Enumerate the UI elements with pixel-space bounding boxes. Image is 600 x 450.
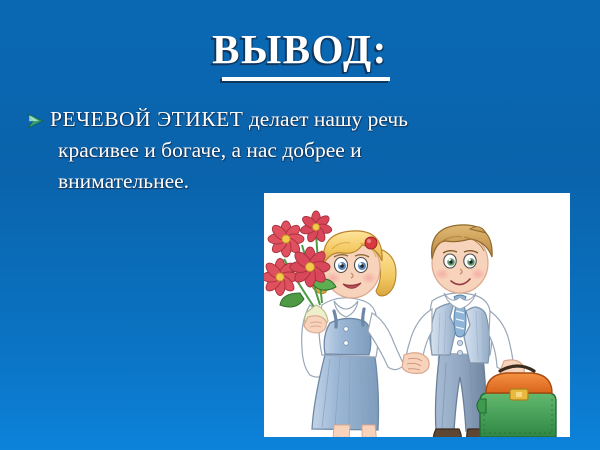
boy-left-shoe bbox=[433, 429, 461, 437]
bullet-line-2: красивее и богаче, а нас добрее и bbox=[50, 135, 566, 166]
bullet-line-1-emphasis: РЕЧЕВОЙ ЭТИКЕТ bbox=[50, 107, 243, 131]
title-underline bbox=[222, 77, 390, 81]
arrow-bullet-icon bbox=[26, 113, 48, 134]
girl-right-leg bbox=[362, 425, 377, 437]
presentation-slide: ВЫВОД: РЕЧЕВОЙ ЭТИКЕТ делает нашу речь к… bbox=[0, 0, 600, 450]
bullet-line-1-rest: делает нашу речь bbox=[243, 107, 408, 131]
bullet-text: РЕЧЕВОЙ ЭТИКЕТ делает нашу речь красивее… bbox=[50, 104, 566, 197]
bullet-list-item: РЕЧЕВОЙ ЭТИКЕТ делает нашу речь красивее… bbox=[26, 104, 566, 197]
page-title: ВЫВОД: bbox=[208, 26, 392, 76]
clasped-hands bbox=[402, 353, 429, 374]
girl-left-hand bbox=[304, 316, 326, 333]
title-block: ВЫВОД: bbox=[0, 26, 600, 76]
girl-left-leg bbox=[333, 425, 350, 437]
girl-hair-bow bbox=[365, 237, 377, 249]
picture-panel: Мальчик и девочка-школьники держатся за … bbox=[264, 193, 570, 437]
satchel-side-pocket bbox=[477, 399, 486, 413]
schoolchildren-illustration: Мальчик и девочка-школьники держатся за … bbox=[264, 193, 570, 437]
